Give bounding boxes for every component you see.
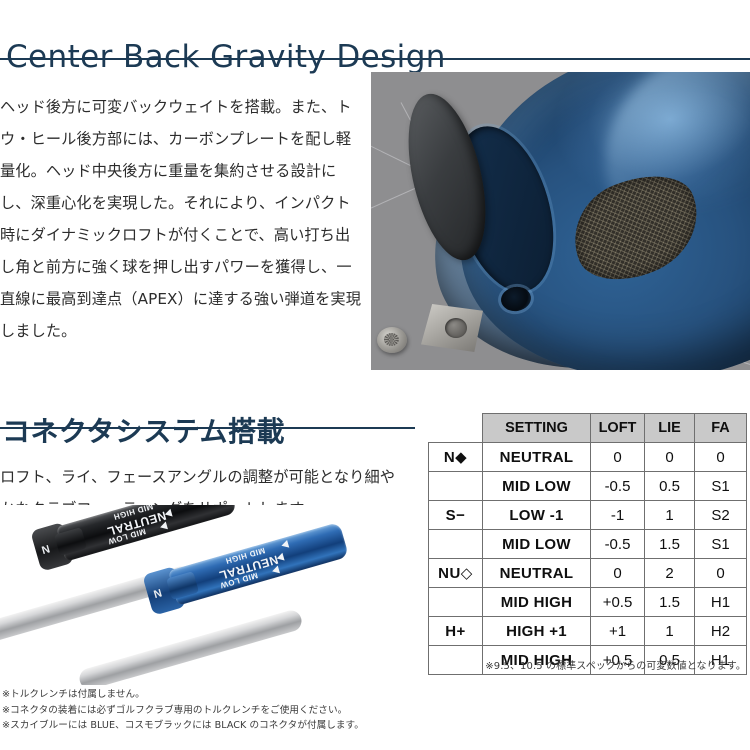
table-row: MID HIGH+0.51.5H1 xyxy=(429,588,747,617)
cell-setting: LOW -1 xyxy=(483,501,591,530)
sleeve-arrow-icon xyxy=(271,566,280,576)
cell-lie: 1.5 xyxy=(645,588,695,617)
table-header-fa: FA xyxy=(695,414,747,443)
cell-code: N◆ xyxy=(429,443,483,472)
shaft-blue xyxy=(77,608,304,685)
table-header-setting: SETTING xyxy=(483,414,591,443)
table-header-row: SETTING LOFT LIE FA xyxy=(429,414,747,443)
cell-loft: -0.5 xyxy=(591,530,645,559)
cell-loft: -0.5 xyxy=(591,472,645,501)
cell-setting: MID LOW xyxy=(483,530,591,559)
footnote-item: ※トルクレンチは付属しません。 xyxy=(2,687,432,703)
table-body: N◆NEUTRAL000MID LOW-0.50.5S1S−LOW -1-11S… xyxy=(429,443,747,675)
cell-code: S− xyxy=(429,501,483,530)
cell-setting: MID HIGH xyxy=(483,588,591,617)
cell-code: NU◇ xyxy=(429,559,483,588)
heading-rule-connector xyxy=(0,427,415,429)
adjustment-spec-table: SETTING LOFT LIE FA N◆NEUTRAL000MID LOW-… xyxy=(428,413,747,675)
cell-lie: 1 xyxy=(645,501,695,530)
section-heading-connector: コネクタシステム搭載 xyxy=(2,416,285,448)
cell-setting: HIGH +1 xyxy=(483,617,591,646)
cell-loft: 0 xyxy=(591,559,645,588)
cell-lie: 0.5 xyxy=(645,472,695,501)
cell-fa: H2 xyxy=(695,617,747,646)
table-header-loft: LOFT xyxy=(591,414,645,443)
cell-code xyxy=(429,530,483,559)
sleeve-arrow-icon xyxy=(164,509,173,519)
table-row: MID LOW-0.50.5S1 xyxy=(429,472,747,501)
footnote-item: ※コネクタの装着には必ずゴルフクラブ専用のトルクレンチをご使用ください。 xyxy=(2,703,432,719)
heading-rule-gravity xyxy=(0,58,750,60)
table-header-corner xyxy=(429,414,483,443)
table-row: MID LOW-0.51.5S1 xyxy=(429,530,747,559)
product-info-page: Center Back Gravity Design ヘッド後方に可変バックウェ… xyxy=(0,0,750,750)
cell-lie: 0 xyxy=(645,443,695,472)
sleeve-barrel: MID HIGH NEUTRAL MID LOW xyxy=(56,505,237,562)
gravity-description-text: ヘッド後方に可変バックウェイトを搭載。また、トウ・ヒール後方部には、カーボンプレ… xyxy=(0,91,362,347)
cell-loft: +0.5 xyxy=(591,588,645,617)
cell-setting: NEUTRAL xyxy=(483,559,591,588)
table-row: NU◇NEUTRAL020 xyxy=(429,559,747,588)
cell-lie: 1.5 xyxy=(645,530,695,559)
sleeve-arrow-icon xyxy=(276,553,285,563)
cell-loft: 0 xyxy=(591,443,645,472)
cell-fa: 0 xyxy=(695,443,747,472)
cell-loft: +1 xyxy=(591,617,645,646)
cell-code xyxy=(429,472,483,501)
cell-lie: 2 xyxy=(645,559,695,588)
table-row: S−LOW -1-11S2 xyxy=(429,501,747,530)
sleeve-arrow-icon xyxy=(280,540,289,550)
sleeve-arrow-icon xyxy=(168,505,177,506)
driver-head-product-image xyxy=(371,72,750,370)
cell-fa: S2 xyxy=(695,501,747,530)
cell-fa: S1 xyxy=(695,472,747,501)
spec-table-note: ※9.5、10.5 の標準スペックからの可変数値となります。 xyxy=(428,657,746,672)
cell-code: H+ xyxy=(429,617,483,646)
footnote-item: ※スカイブルーには BLUE、コスモブラックには BLACK のコネクタが付属し… xyxy=(2,718,432,734)
weight-bore xyxy=(445,318,467,338)
table-row: N◆NEUTRAL000 xyxy=(429,443,747,472)
table-row: H+HIGH +1+11H2 xyxy=(429,617,747,646)
cell-fa: H1 xyxy=(695,588,747,617)
table-header-lie: LIE xyxy=(645,414,695,443)
weight-screw xyxy=(377,327,407,353)
cell-lie: 1 xyxy=(645,617,695,646)
connector-sleeves-image: MID HIGH NEUTRAL MID LOW N MID HIGH NEUT… xyxy=(0,505,420,685)
cell-setting: NEUTRAL xyxy=(483,443,591,472)
cell-fa: 0 xyxy=(695,559,747,588)
cell-setting: MID LOW xyxy=(483,472,591,501)
cell-fa: S1 xyxy=(695,530,747,559)
cell-loft: -1 xyxy=(591,501,645,530)
sleeve-arrow-icon xyxy=(159,522,168,532)
spec-table-container: SETTING LOFT LIE FA N◆NEUTRAL000MID LOW-… xyxy=(428,413,746,675)
section-heading-gravity: Center Back Gravity Design xyxy=(6,39,446,75)
cell-code xyxy=(429,588,483,617)
footnotes-block: ※トルクレンチは付属しません。 ※コネクタの装着には必ずゴルフクラブ専用のトルク… xyxy=(2,687,432,734)
